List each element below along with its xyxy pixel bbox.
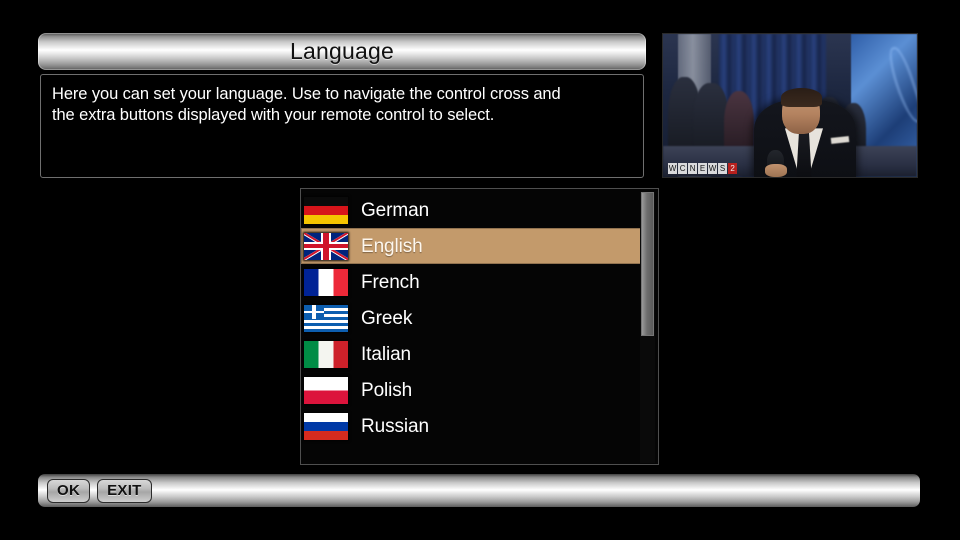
channel-bug-char: S [718, 163, 727, 174]
flag-germany-icon [304, 197, 348, 224]
language-list-item-english[interactable]: English [301, 228, 642, 264]
flag-greece-icon [304, 305, 348, 332]
language-list-item-greek[interactable]: Greek [301, 300, 642, 336]
video-sculpture-swirl [885, 44, 918, 126]
flag-poland-icon [304, 377, 348, 404]
channel-bug-char: 2 [728, 163, 737, 174]
video-subject-hand [765, 164, 788, 177]
channel-bug-char: W [708, 163, 717, 174]
language-list-item-german[interactable]: German [301, 192, 642, 228]
title-bar: Language [38, 33, 646, 70]
language-list-scrollbar-thumb[interactable] [641, 192, 654, 336]
page-title: Language [290, 40, 394, 63]
tv-settings-screen: Language Here you can set your language.… [0, 0, 960, 540]
language-label: French [361, 273, 420, 292]
language-list-item-polish[interactable]: Polish [301, 372, 642, 408]
bottom-action-bar: OK EXIT [38, 474, 920, 507]
language-list-item-russian[interactable]: Russian [301, 408, 642, 444]
help-info-text: Here you can set your language. Use to n… [52, 84, 632, 126]
channel-bug-char: W [668, 163, 677, 174]
language-list-item-french[interactable]: French [301, 264, 642, 300]
exit-button-label: EXIT [107, 482, 142, 499]
ok-button[interactable]: OK [47, 479, 90, 503]
language-list-panel[interactable]: German English French [300, 188, 659, 465]
video-subject-hair [781, 88, 822, 107]
language-label: German [361, 201, 429, 220]
language-label: Greek [361, 309, 412, 328]
channel-bug-char: N [688, 163, 697, 174]
help-info-box: Here you can set your language. Use to n… [40, 74, 644, 178]
language-list-item-italian[interactable]: Italian [301, 336, 642, 372]
flag-russia-icon [304, 413, 348, 440]
language-list: German English French [301, 192, 642, 444]
language-label: Polish [361, 381, 412, 400]
channel-bug-char: E [698, 163, 707, 174]
channel-bug-char: C [678, 163, 687, 174]
language-label: Italian [361, 345, 411, 364]
language-label: English [361, 237, 423, 256]
exit-button[interactable]: EXIT [97, 479, 152, 503]
language-label: Russian [361, 417, 429, 436]
video-channel-bug: W C N E W S 2 [668, 163, 737, 174]
flag-france-icon [304, 269, 348, 296]
language-list-scrollbar-track[interactable] [640, 192, 655, 463]
flag-italy-icon [304, 341, 348, 368]
video-preview-panel[interactable]: W C N E W S 2 [662, 33, 918, 178]
flag-united-kingdom-icon [304, 233, 348, 260]
ok-button-label: OK [57, 482, 80, 499]
